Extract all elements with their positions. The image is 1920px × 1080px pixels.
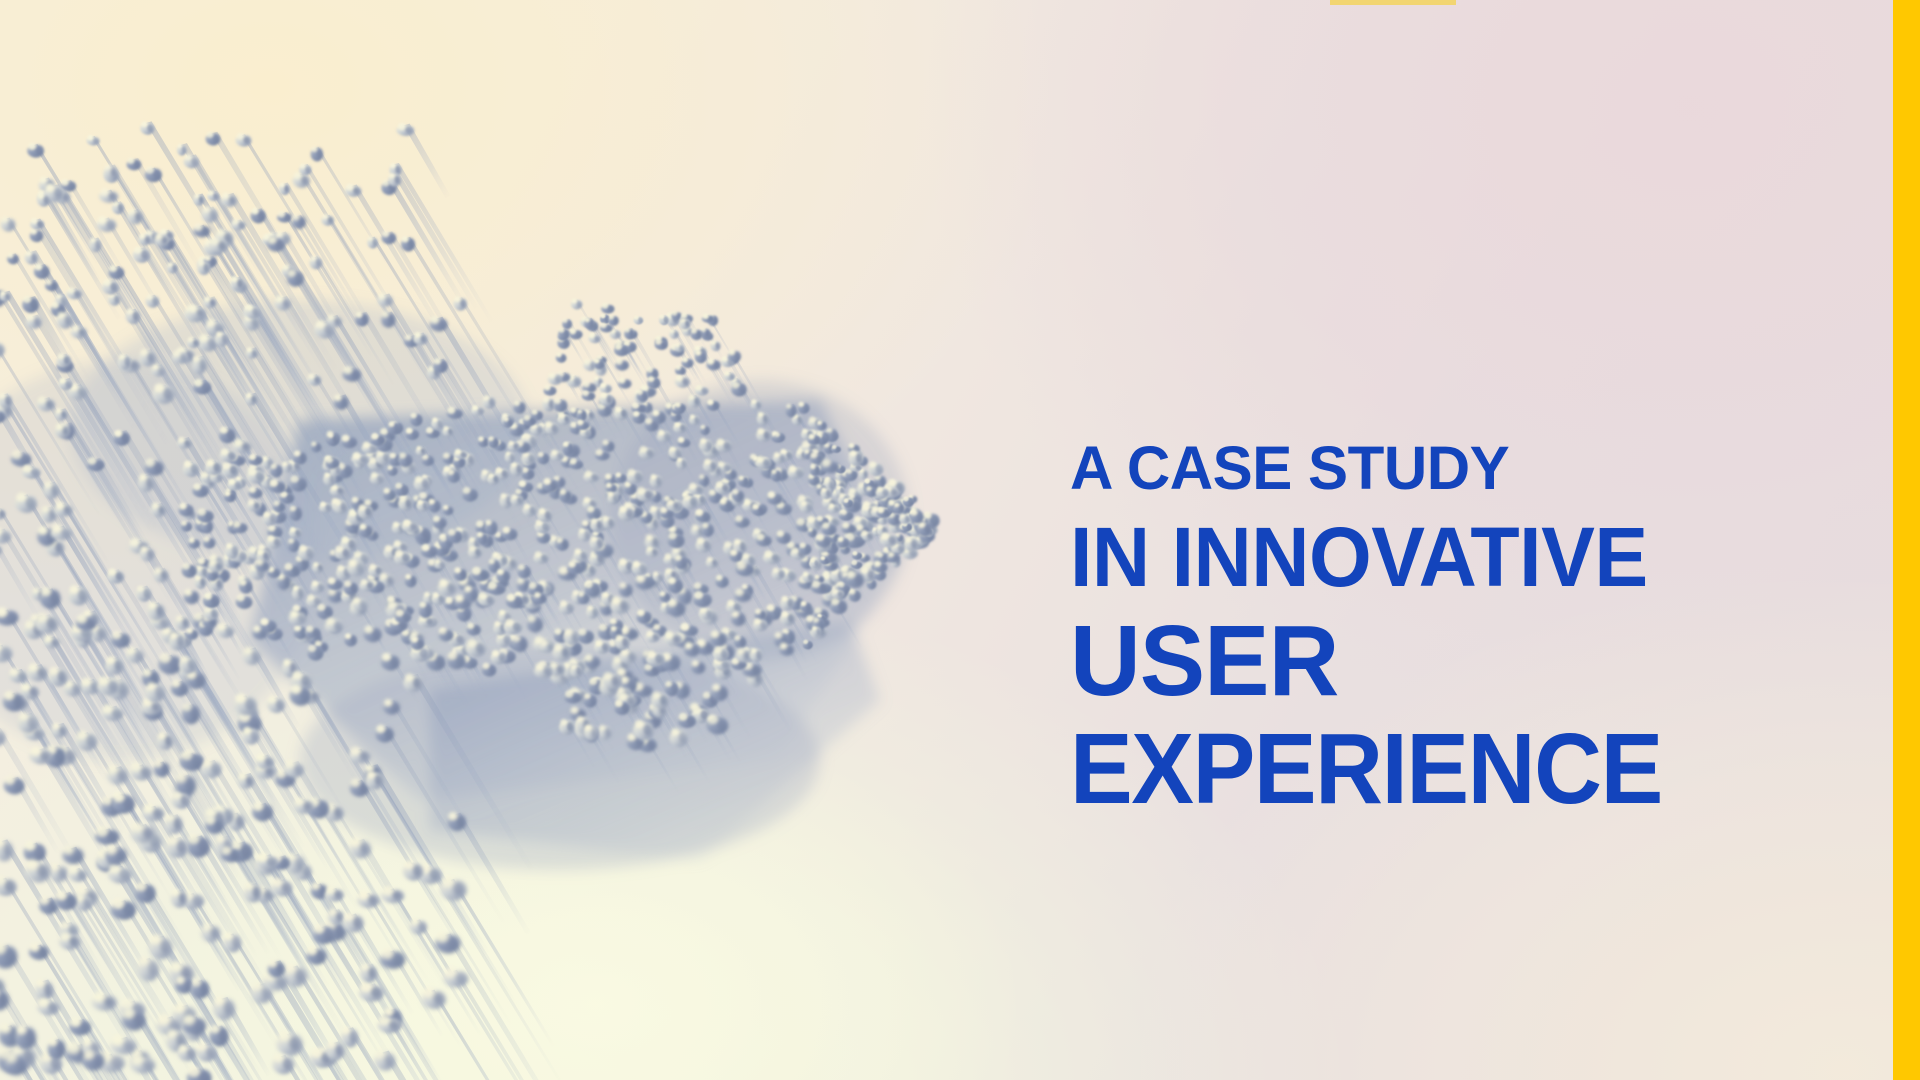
crowd-figures	[0, 121, 940, 1080]
headline-line-4: EXPERIENCE	[1070, 719, 1784, 819]
headline-line-2: IN INNOVATIVE	[1070, 515, 1800, 599]
yellow-top-accent-bar	[1330, 0, 1456, 5]
crowd-arrow-illustration	[0, 0, 1150, 1080]
yellow-right-edge-stripe	[1893, 0, 1920, 1080]
headline-line-3: USER	[1070, 611, 1815, 711]
presentation-slide: A CASE STUDY IN INNOVATIVE USER EXPERIEN…	[0, 0, 1920, 1080]
headline-line-1: A CASE STUDY	[1070, 438, 1819, 499]
headline-block: A CASE STUDY IN INNOVATIVE USER EXPERIEN…	[1070, 438, 1830, 819]
